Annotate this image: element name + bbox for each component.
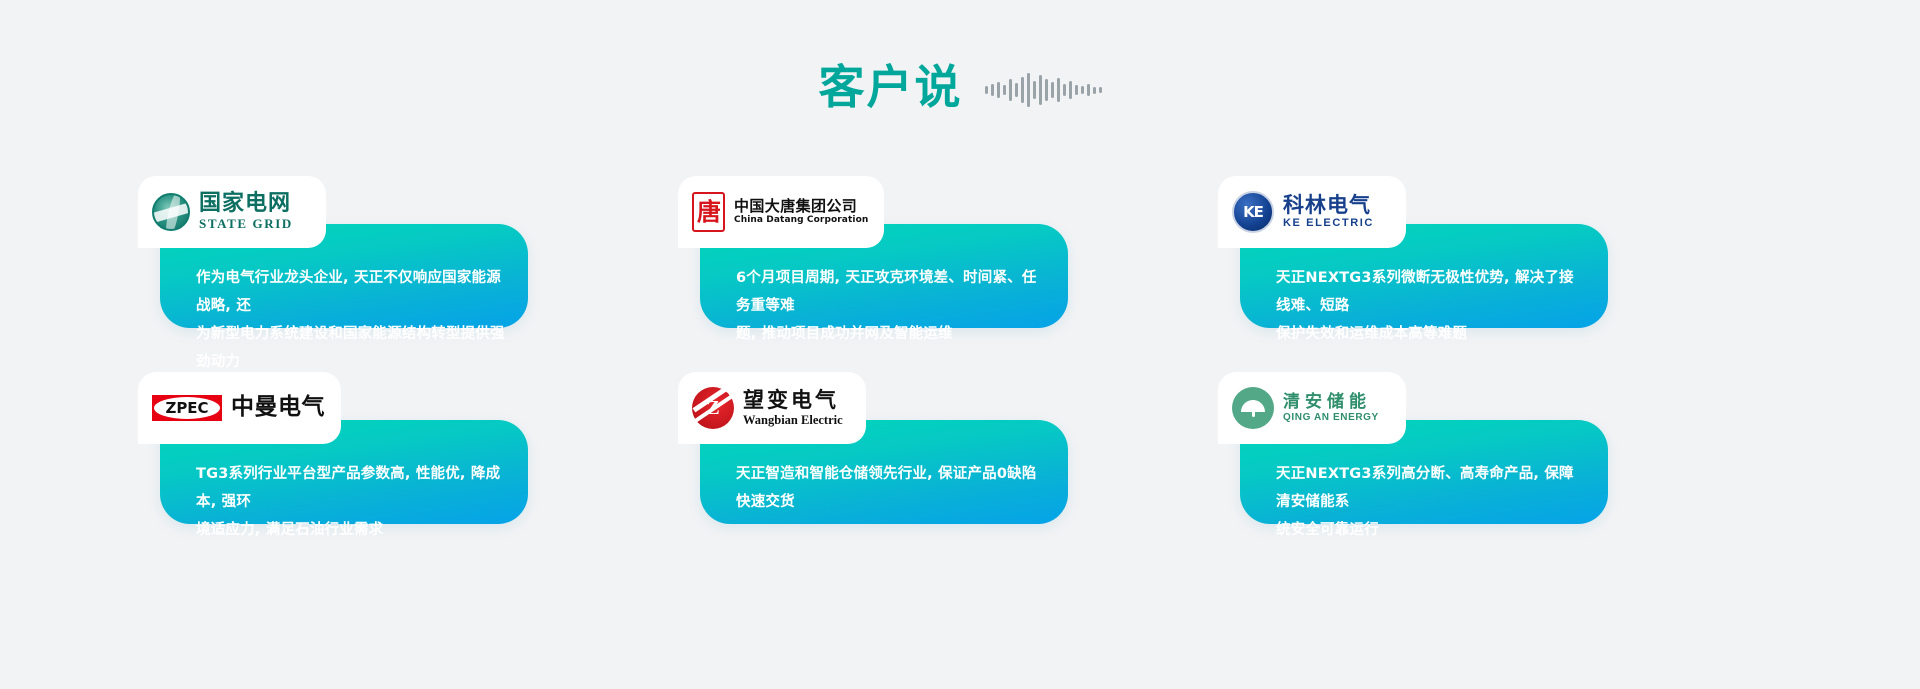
- waveform-bar: [1063, 84, 1066, 96]
- testimonial-quote: 天正NEXTG3系列微断无极性优势, 解决了接线难、短路 保护失效和运维成本高等…: [1276, 264, 1586, 348]
- testimonial-card-state-grid[interactable]: 作为电气行业龙头企业, 天正不仅响应国家能源战略, 还 为新型电力系统建设和国家…: [138, 176, 528, 328]
- waveform-bar: [1087, 84, 1090, 96]
- section-header: 客户说: [0, 64, 1920, 110]
- logo-name-en: QING AN ENERGY: [1283, 412, 1379, 424]
- waveform-bar: [1009, 79, 1012, 101]
- zpec-wordmark: ZPEC: [165, 399, 208, 417]
- page-title: 客户说: [819, 64, 963, 110]
- waveform-bar: [1033, 81, 1036, 99]
- zpec-oval-icon: ZPEC: [152, 395, 222, 421]
- wangbian-circle-icon: Z: [692, 387, 734, 429]
- logo-name-cn: 中国大唐集团公司: [734, 198, 868, 215]
- waveform-bar: [1069, 81, 1072, 99]
- datang-seal-glyph: 唐: [697, 197, 720, 227]
- waveform-bar: [1003, 85, 1006, 95]
- datang-seal-icon: 唐: [692, 192, 725, 232]
- waveform-bar: [1021, 77, 1024, 103]
- testimonial-quote: 作为电气行业龙头企业, 天正不仅响应国家能源战略, 还 为新型电力系统建设和国家…: [196, 264, 506, 376]
- testimonial-quote: TG3系列行业平台型产品参数高, 性能优, 降成本, 强环 境适应力, 满足石油…: [196, 460, 506, 544]
- testimonial-card-china-datang[interactable]: 6个月项目周期, 天正攻克环境差、时间紧、任务重等难 题, 推动项目成功并网及智…: [678, 176, 1068, 328]
- waveform-bar: [997, 82, 1000, 98]
- logo-badge-state-grid: 国家电网 STATE GRID: [138, 176, 326, 248]
- testimonial-card-ke-electric[interactable]: 天正NEXTG3系列微断无极性优势, 解决了接线难、短路 保护失效和运维成本高等…: [1218, 176, 1608, 328]
- waveform-bar: [1093, 87, 1096, 94]
- testimonial-card-grid: 作为电气行业龙头企业, 天正不仅响应国家能源战略, 还 为新型电力系统建设和国家…: [138, 176, 1778, 524]
- state-grid-globe-icon: [152, 193, 190, 231]
- testimonial-card-wangbian[interactable]: 天正智造和智能仓储领先行业, 保证产品0缺陷快速交货 Z 望变电气 Wangbi…: [678, 372, 1068, 524]
- qingan-umbrella-icon: [1232, 387, 1274, 429]
- waveform-bar: [1075, 85, 1078, 95]
- testimonials-page: 客户说 作为电气行业龙头企业, 天正不仅响应国家能源战略, 还 为新型电力系统建…: [0, 0, 1920, 689]
- testimonial-quote: 天正NEXTG3系列高分断、高寿命产品, 保障清安储能系 统安全可靠运行: [1276, 460, 1586, 544]
- logo-name-cn: 清安储能: [1283, 393, 1379, 412]
- ke-monogram: KE: [1243, 203, 1263, 221]
- waveform-bar: [991, 84, 994, 96]
- wangbian-monogram: Z: [706, 397, 719, 420]
- logo-name-cn: 国家电网: [199, 192, 293, 217]
- logo-badge-ke-electric: KE 科林电气 KE ELECTRIC: [1218, 176, 1406, 248]
- waveform-bar: [1081, 86, 1084, 94]
- waveform-bar: [1099, 87, 1102, 93]
- waveform-bar: [1045, 79, 1048, 101]
- logo-badge-china-datang: 唐 中国大唐集团公司 China Datang Corporation: [678, 176, 884, 248]
- waveform-bar: [1039, 75, 1042, 105]
- logo-name-en: STATE GRID: [199, 217, 293, 232]
- logo-name-cn: 科林电气: [1283, 194, 1374, 218]
- logo-name-en: Wangbian Electric: [743, 413, 843, 427]
- waveform-bar: [985, 86, 988, 94]
- waveform-bar: [1027, 73, 1030, 107]
- logo-badge-zpec: ZPEC 中曼电气: [138, 372, 341, 444]
- waveform-bar: [1015, 83, 1018, 97]
- testimonial-quote: 天正智造和智能仓储领先行业, 保证产品0缺陷快速交货: [736, 460, 1046, 516]
- testimonial-quote: 6个月项目周期, 天正攻克环境差、时间紧、任务重等难 题, 推动项目成功并网及智…: [736, 264, 1046, 348]
- logo-badge-qingan: 清安储能 QING AN ENERGY: [1218, 372, 1406, 444]
- logo-name-en: KE ELECTRIC: [1283, 217, 1374, 230]
- logo-name-en: China Datang Corporation: [734, 215, 868, 225]
- logo-name-cn: 中曼电气: [231, 395, 325, 421]
- waveform-bar: [1057, 78, 1060, 102]
- testimonial-card-zpec[interactable]: TG3系列行业平台型产品参数高, 性能优, 降成本, 强环 境适应力, 满足石油…: [138, 372, 528, 524]
- waveform-bar: [1051, 82, 1054, 98]
- testimonial-card-qingan[interactable]: 天正NEXTG3系列高分断、高寿命产品, 保障清安储能系 统安全可靠运行 清安储…: [1218, 372, 1608, 524]
- logo-badge-wangbian: Z 望变电气 Wangbian Electric: [678, 372, 866, 444]
- audio-waveform-icon: [985, 67, 1102, 107]
- ke-electric-circle-icon: KE: [1232, 191, 1274, 233]
- logo-name-cn: 望变电气: [743, 389, 843, 413]
